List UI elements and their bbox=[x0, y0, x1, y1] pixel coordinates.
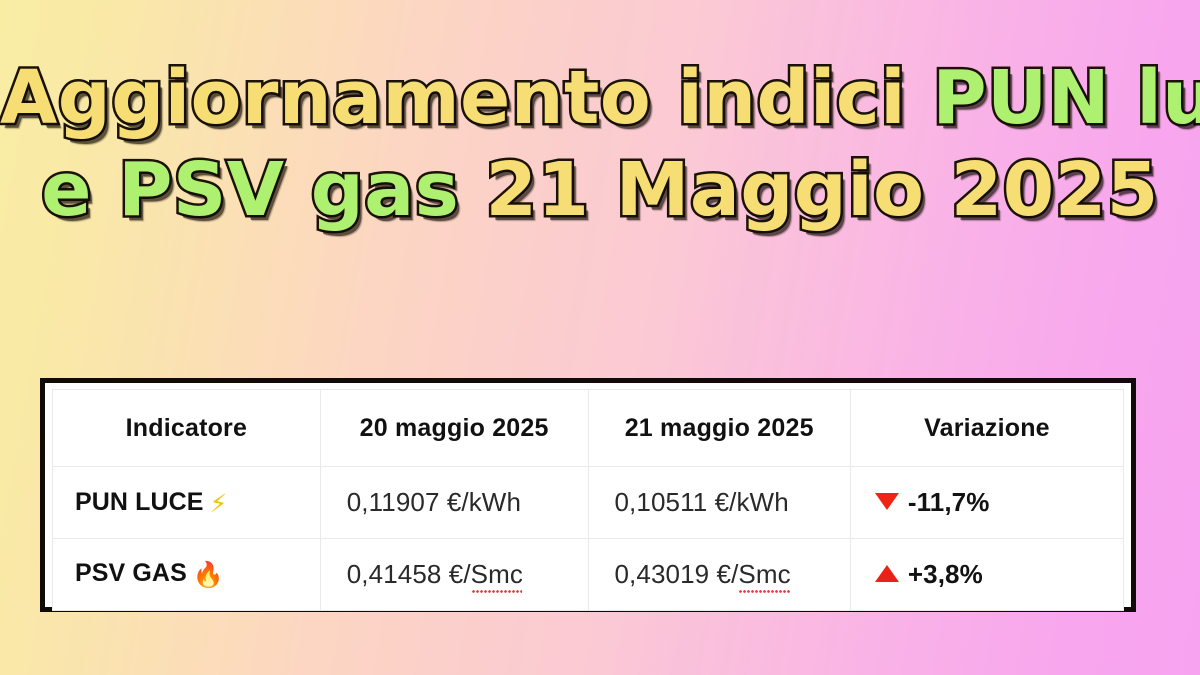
title-line-1-green-segment: PUN luce bbox=[932, 55, 1200, 141]
cell-current-value-pun-luce: 0,10511 €/kWh bbox=[588, 467, 850, 539]
column-header-indicator: Indicatore bbox=[53, 390, 321, 467]
cell-current-value-psv-gas: 0,43019 €/Smc bbox=[588, 539, 850, 611]
table-row: PSV GAS🔥 0,41458 €/Smc 0,43019 €/Smc +3,… bbox=[53, 539, 1124, 611]
indicator-label: PUN LUCE bbox=[75, 488, 204, 516]
title-line-2-green-segment: e PSV gas bbox=[41, 147, 485, 233]
title-line-2-yellow-segment: 21 Maggio 2025 bbox=[486, 147, 1159, 233]
current-value-text: 0,10511 €/kWh bbox=[615, 487, 789, 517]
lightning-bolt-icon: ⚡ bbox=[210, 489, 228, 518]
variation-value: -11,7% bbox=[908, 487, 990, 517]
triangle-down-icon bbox=[875, 493, 899, 510]
triangle-up-icon bbox=[875, 565, 899, 582]
indices-table: Indicatore 20 maggio 2025 21 maggio 2025… bbox=[52, 389, 1124, 611]
column-header-previous-day: 20 maggio 2025 bbox=[320, 390, 588, 467]
previous-value-text: 0,11907 €/kWh bbox=[347, 487, 521, 517]
cell-variation-pun-luce: -11,7% bbox=[850, 467, 1123, 539]
flame-icon: 🔥 bbox=[193, 560, 224, 589]
cell-previous-value-pun-luce: 0,11907 €/kWh bbox=[320, 467, 588, 539]
column-header-variation: Variazione bbox=[850, 390, 1123, 467]
variation-value: +3,8% bbox=[908, 559, 983, 589]
poster-title: Aggiornamento indici PUN luce e PSV gas … bbox=[0, 52, 1200, 236]
table-row: PUN LUCE⚡ 0,11907 €/kWh 0,10511 €/kWh -1… bbox=[53, 467, 1124, 539]
title-line-1-yellow-segment: Aggiornamento indici bbox=[0, 55, 932, 141]
poster-canvas: Aggiornamento indici PUN luce e PSV gas … bbox=[0, 0, 1200, 675]
previous-value-unit-misspelled: Smc bbox=[471, 559, 523, 590]
column-header-current-day: 21 maggio 2025 bbox=[588, 390, 850, 467]
cell-indicator-psv-gas: PSV GAS🔥 bbox=[53, 539, 321, 611]
title-line-2: e PSV gas 21 Maggio 2025 bbox=[0, 144, 1200, 236]
cell-previous-value-psv-gas: 0,41458 €/Smc bbox=[320, 539, 588, 611]
indices-table-frame: Indicatore 20 maggio 2025 21 maggio 2025… bbox=[40, 378, 1136, 612]
indicator-label: PSV GAS bbox=[75, 559, 187, 587]
table-header-row: Indicatore 20 maggio 2025 21 maggio 2025… bbox=[53, 390, 1124, 467]
cell-indicator-pun-luce: PUN LUCE⚡ bbox=[53, 467, 321, 539]
current-value-text: 0,43019 €/ bbox=[615, 559, 739, 589]
current-value-unit-misspelled: Smc bbox=[738, 559, 790, 590]
title-line-1: Aggiornamento indici PUN luce bbox=[0, 52, 1200, 144]
cell-variation-psv-gas: +3,8% bbox=[850, 539, 1123, 611]
previous-value-text: 0,41458 €/ bbox=[347, 559, 471, 589]
